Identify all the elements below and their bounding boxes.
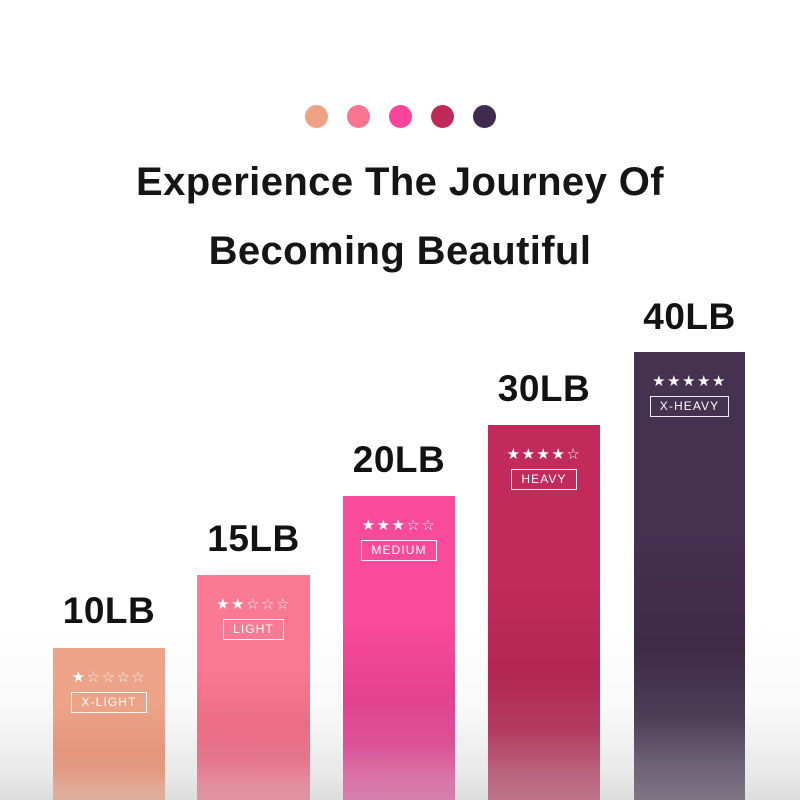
bar-20lb[interactable]: ★★★☆☆MEDIUM [343,496,455,800]
bar-15lb[interactable]: ★★☆☆☆LIGHT [197,575,310,800]
level-label-x-light: X-LIGHT [71,692,146,713]
weight-label-20lb: 20LB [343,439,455,481]
rating-badge-medium: ★★★☆☆MEDIUM [343,518,455,561]
weight-label-40lb: 40LB [634,296,745,338]
bar-bottom-fade [197,724,310,800]
level-label-medium: MEDIUM [361,540,436,561]
level-label-x-heavy: X-HEAVY [650,396,730,417]
bar-group-30lb: 30LB★★★★☆HEAVY [488,0,600,800]
resistance-bar-chart: 10LB★☆☆☆☆X-LIGHT15LB★★☆☆☆LIGHT20LB★★★☆☆M… [0,0,800,800]
level-label-light: LIGHT [223,619,284,640]
star-rating-icon: ★★★★★ [652,374,727,389]
rating-badge-x-heavy: ★★★★★X-HEAVY [634,374,745,417]
rating-badge-light: ★★☆☆☆LIGHT [197,597,310,640]
bar-group-15lb: 15LB★★☆☆☆LIGHT [197,0,310,800]
star-rating-icon: ★★★★☆ [507,447,582,462]
bar-30lb[interactable]: ★★★★☆HEAVY [488,425,600,800]
star-rating-icon: ★★★☆☆ [362,518,437,533]
product-infographic-poster: Experience The Journey Of Becoming Beaut… [0,0,800,800]
bar-group-20lb: 20LB★★★☆☆MEDIUM [343,0,455,800]
bar-group-40lb: 40LB★★★★★X-HEAVY [634,0,745,800]
level-label-heavy: HEAVY [511,469,576,490]
weight-label-15lb: 15LB [197,518,310,560]
bar-40lb[interactable]: ★★★★★X-HEAVY [634,352,745,800]
weight-label-10lb: 10LB [53,590,165,632]
rating-badge-x-light: ★☆☆☆☆X-LIGHT [53,670,165,713]
bar-bottom-fade [53,748,165,800]
star-rating-icon: ★☆☆☆☆ [72,670,147,685]
star-rating-icon: ★★☆☆☆ [216,597,291,612]
bar-10lb[interactable]: ★☆☆☆☆X-LIGHT [53,648,165,800]
bar-bottom-fade [343,697,455,800]
weight-label-30lb: 30LB [488,368,600,410]
rating-badge-heavy: ★★★★☆HEAVY [488,447,600,490]
bar-group-10lb: 10LB★☆☆☆☆X-LIGHT [53,0,165,800]
bar-bottom-fade [634,648,745,800]
bar-bottom-fade [488,673,600,800]
